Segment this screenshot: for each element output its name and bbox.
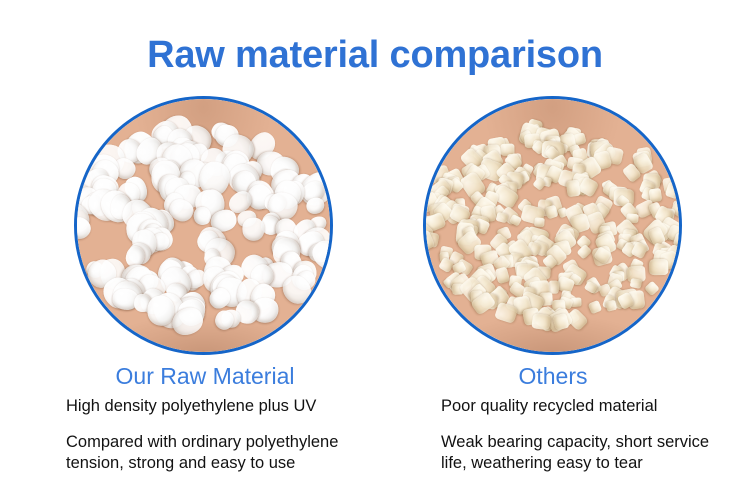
column-heading-others: Others xyxy=(378,362,728,390)
column-line1-others: Poor quality recycled material xyxy=(441,396,657,416)
pellet xyxy=(629,278,642,289)
pellet xyxy=(644,280,659,295)
column-paragraph-others: Weak bearing capacity, short service lif… xyxy=(441,432,750,474)
column-heading-our-raw-material: Our Raw Material xyxy=(30,362,380,390)
pellet xyxy=(605,299,617,311)
pellet xyxy=(566,180,581,197)
column-line1-our-raw-material: High density polyethylene plus UV xyxy=(66,396,316,416)
pellet xyxy=(576,244,592,260)
photo-circle-our-raw-material xyxy=(74,96,333,355)
beige-pellet-pile xyxy=(426,119,679,332)
paragraph-line: tension, strong and easy to use xyxy=(66,453,411,474)
pellet xyxy=(549,280,560,293)
pellet xyxy=(552,313,569,331)
pellet xyxy=(531,313,550,330)
paragraph-line: life, weathering easy to tear xyxy=(441,453,750,474)
page-title: Raw material comparison xyxy=(0,32,750,78)
pellet xyxy=(495,211,508,223)
white-pellet-pile xyxy=(77,119,330,332)
paragraph-line: Compared with ordinary polyethylene xyxy=(66,432,411,453)
column-paragraph-our-raw-material: Compared with ordinary polyethylene tens… xyxy=(66,432,411,474)
photo-circle-others xyxy=(423,96,682,355)
pellet xyxy=(495,266,511,284)
pellet xyxy=(242,216,265,240)
pellet xyxy=(588,300,602,315)
photo-image-beige-pellets xyxy=(426,99,679,352)
photo-image-white-pellets xyxy=(77,99,330,352)
paragraph-line: Weak bearing capacity, short service xyxy=(441,432,750,453)
pellet xyxy=(535,217,545,226)
pellet xyxy=(649,258,668,275)
